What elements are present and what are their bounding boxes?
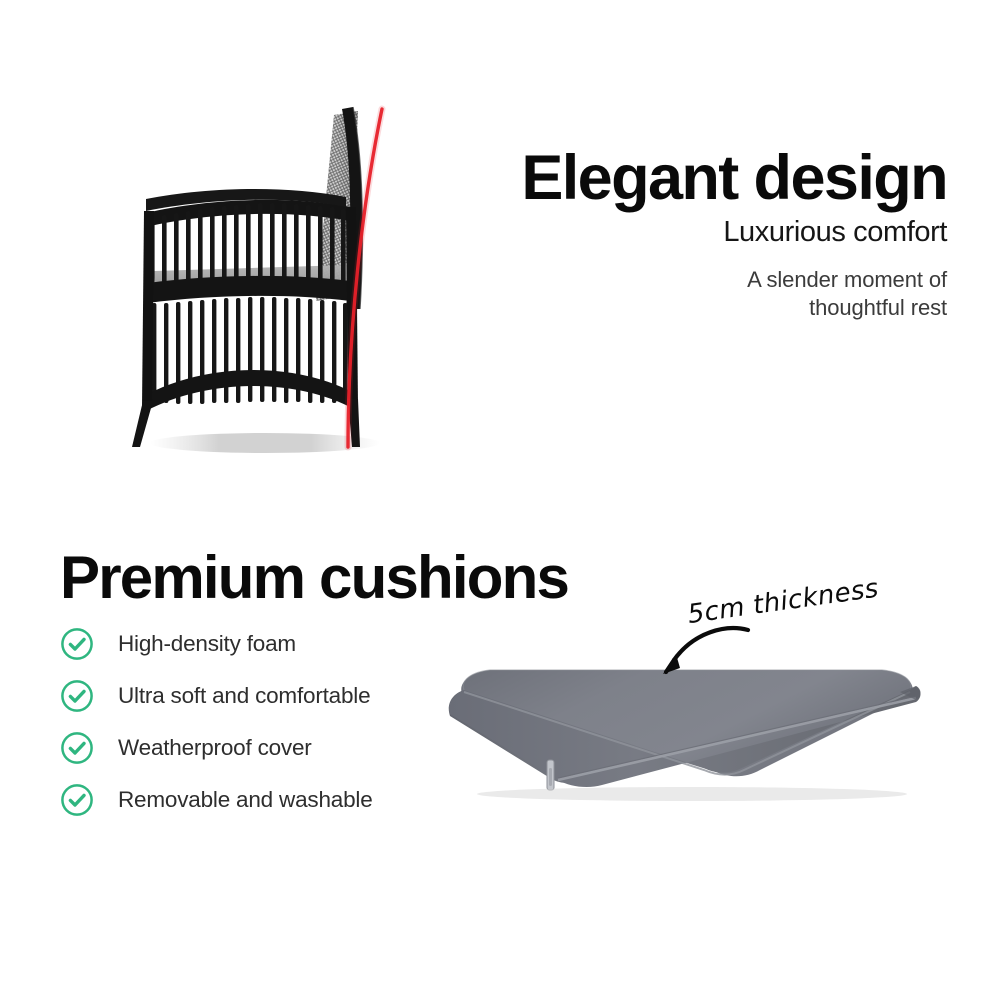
- headline-elegant-design: Elegant design: [477, 146, 947, 210]
- list-item: Ultra soft and comfortable: [60, 670, 480, 722]
- check-circle-icon: [60, 679, 94, 713]
- list-item: Removable and washable: [60, 774, 480, 826]
- chair-product-image: [110, 95, 450, 495]
- check-circle-icon: [60, 627, 94, 661]
- feature-label: Ultra soft and comfortable: [118, 683, 370, 709]
- cushion-shadow: [477, 787, 907, 801]
- subheadline-luxurious-comfort: Luxurious comfort: [477, 216, 947, 249]
- tagline-line-2: thoughtful rest: [477, 294, 947, 323]
- check-circle-icon: [60, 731, 94, 765]
- feature-label: Weatherproof cover: [118, 735, 312, 761]
- feature-label: Removable and washable: [118, 787, 373, 813]
- feature-label: High-density foam: [118, 631, 296, 657]
- feature-list: High-density foam Ultra soft and comfort…: [60, 618, 480, 826]
- tagline-line-1: A slender moment of: [477, 266, 947, 295]
- infographic-canvas: Elegant design Luxurious comfort A slend…: [0, 0, 1000, 1000]
- list-item: Weatherproof cover: [60, 722, 480, 774]
- check-circle-icon: [60, 783, 94, 817]
- cushion-product-image: [430, 582, 960, 822]
- elegant-design-text-group: Elegant design Luxurious comfort A slend…: [477, 146, 947, 323]
- list-item: High-density foam: [60, 618, 480, 670]
- tagline-group: A slender moment of thoughtful rest: [477, 266, 947, 323]
